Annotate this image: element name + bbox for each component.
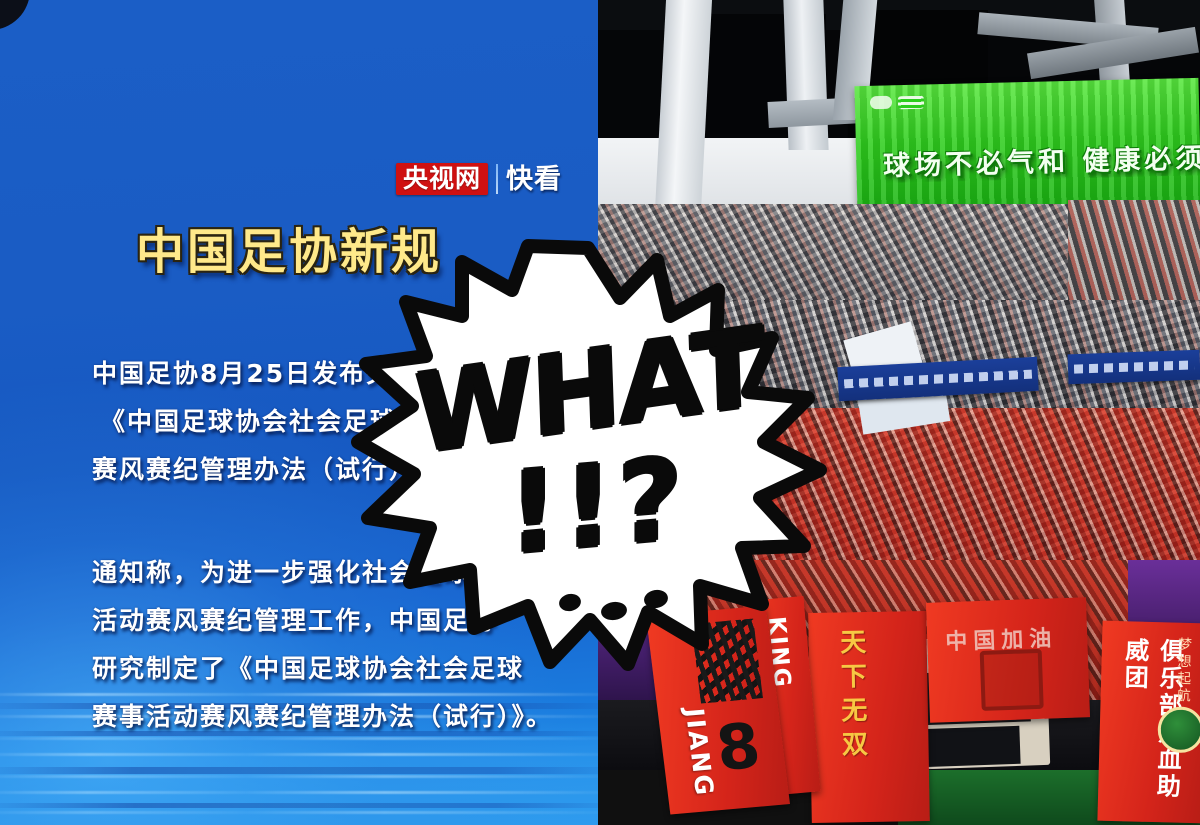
red-flag-4-seal (980, 649, 1044, 711)
cctv-logo: 央视网 快看 (396, 163, 562, 195)
red-flag-3: 天下无双 (808, 611, 930, 823)
paragraph-2-line-4: 赛事活动赛风赛纪管理办法（试行）》。 (92, 693, 553, 741)
cctv-logo-suffix: 快看 (506, 166, 562, 193)
logo-divider (496, 164, 498, 194)
blue-ad-board-2 (1068, 350, 1200, 385)
banner-sponsor-icon-2 (898, 96, 924, 110)
red-flag-4: 中国加油 (926, 597, 1090, 723)
red-flag-5-side-text: 梦想起航 (1172, 637, 1194, 706)
stadium-pillar-2 (783, 0, 828, 150)
cctv-logo-badge: 央视网 (396, 163, 488, 195)
red-flag-3-text: 天下无双 (832, 628, 871, 765)
cctv-logo-badge-text: 央视网 (403, 164, 481, 193)
green-banner-text: 球场不必气和 健康必须仁 (883, 136, 1200, 183)
comic-burst-overlay: WHAT !!? (352, 246, 822, 666)
screenshot-canvas: 央视网 快看 中国足协新规 中国足协8月25日发布关于 《中国足球协会社会足球 … (0, 0, 1200, 825)
red-flag-1-number: 8 (713, 715, 764, 780)
top-left-corner-decoration (0, 0, 30, 30)
red-flag-5: 俱乐部热血助威团 梦想起航 (1097, 621, 1200, 824)
banner-sponsor-icon-1 (870, 96, 892, 110)
burst-shape-icon (352, 246, 822, 666)
